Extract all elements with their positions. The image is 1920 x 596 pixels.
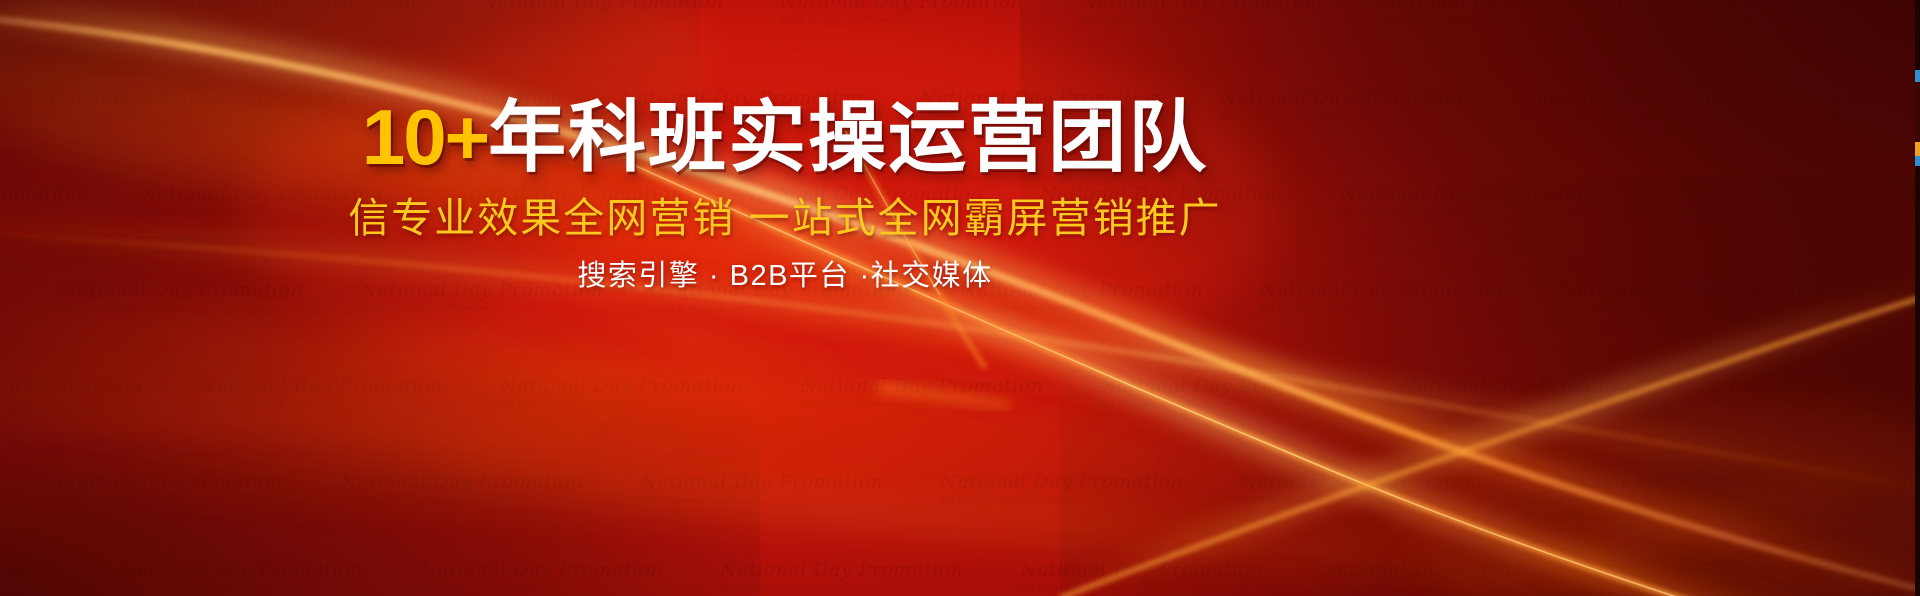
watermark-sub-text: 国庆节 National Day Promotion: [1320, 583, 1620, 594]
watermark-unit: National Day Promotion国庆节 National Day P…: [720, 560, 1020, 594]
watermark-sub-text: 国庆节 National Day Promotion: [960, 303, 1260, 314]
watermark-unit: National Day Promotion国庆节 National Day P…: [1680, 0, 1920, 26]
watermark-sub-text: 国庆节 National Day Promotion: [1100, 399, 1400, 410]
watermark-sub-text: 国庆节 National Day Promotion: [1860, 303, 1920, 314]
watermark-script-text: National Day Promotion: [1840, 472, 1920, 493]
watermark-unit: National Day Promotion国庆节 National Day P…: [0, 560, 120, 594]
watermark-row: National Day Promotion国庆节 National Day P…: [0, 560, 1920, 594]
watermark-script-text: National Day Promotion: [640, 472, 940, 493]
watermark-script-text: National Day Promotion: [1240, 472, 1540, 493]
watermark-script-text: National Day Promotion: [1640, 184, 1920, 205]
watermark-script-text: National Day Promotion: [1380, 0, 1680, 13]
watermark-script-text: National Day Promotion: [420, 560, 720, 581]
watermark-script-text: National Day Promotion: [1860, 280, 1920, 301]
watermark-unit: National Day Promotion国庆节 National Day P…: [1020, 560, 1320, 594]
watermark-sub-text: 国庆节 National Day Promotion: [1820, 111, 1920, 122]
watermark-script-text: National Day Promotion: [1020, 560, 1320, 581]
watermark-script-text: National Day Promotion: [1080, 0, 1380, 13]
watermark-unit: National Day Promotion国庆节 National Day P…: [0, 0, 180, 26]
watermark-sub-text: 国庆节 National Day Promotion: [1240, 495, 1540, 506]
watermark-sub-text: 国庆节 National Day Promotion: [1400, 399, 1700, 410]
watermark-unit: National Day Promotion国庆节 National Day P…: [1380, 0, 1680, 26]
watermark-script-text: National Day Promotion: [1100, 376, 1400, 397]
watermark-sub-text: 国庆节 National Day Promotion: [800, 399, 1100, 410]
watermark-unit: National Day Promotion国庆节 National Day P…: [1820, 88, 1920, 122]
right-edge-sliver: [1915, 0, 1920, 596]
watermark-unit: National Day Promotion国庆节 National Day P…: [0, 376, 200, 410]
watermark-script-text: National Day Promotion: [1700, 376, 1920, 397]
watermark-script-text: National Day Promotion: [1560, 280, 1860, 301]
watermark-unit: National Day Promotion国庆节 National Day P…: [420, 560, 720, 594]
watermark-unit: National Day Promotion国庆节 National Day P…: [1320, 560, 1620, 594]
watermark-sub-text: 国庆节 National Day Promotion: [1680, 15, 1920, 26]
watermark-sub-text: 国庆节 National Day Promotion: [0, 399, 200, 410]
watermark-script-text: National Day Promotion: [180, 0, 480, 13]
subheadline: 信专业效果全网营销 一站式全网霸屏营销推广: [0, 198, 1570, 239]
watermark-script-text: National Day Promotion: [1400, 376, 1700, 397]
watermark-unit: National Day Promotion国庆节 National Day P…: [780, 0, 1080, 26]
vignette-top-right: [1020, 0, 1920, 520]
watermark-sub-text: 国庆节 National Day Promotion: [660, 303, 960, 314]
watermark-script-text: National Day Promotion: [1620, 560, 1920, 581]
watermark-sub-text: 国庆节 National Day Promotion: [940, 495, 1240, 506]
watermark-script-text: National Day Promotion: [940, 472, 1240, 493]
watermark-script-text: National Day Promotion: [1680, 0, 1920, 13]
watermark-script-text: National Day Promotion: [340, 472, 640, 493]
watermark-sub-text: 国庆节 National Day Promotion: [360, 303, 660, 314]
watermark-unit: National Day Promotion国庆节 National Day P…: [1080, 0, 1380, 26]
watermark-sub-text: 国庆节 National Day Promotion: [420, 583, 720, 594]
watermark-unit: National Day Promotion国庆节 National Day P…: [1840, 472, 1920, 506]
watermark-sub-text: 国庆节 National Day Promotion: [1380, 15, 1680, 26]
watermark-script-text: National Day Promotion: [1540, 472, 1840, 493]
headline: 10+年科班实操运营团队: [0, 98, 1570, 176]
watermark-row: National Day Promotion国庆节 National Day P…: [40, 472, 1920, 506]
watermark-script-text: National Day Promotion: [0, 0, 180, 13]
watermark-script-text: National Day Promotion: [780, 0, 1080, 13]
watermark-sub-text: 国庆节 National Day Promotion: [500, 399, 800, 410]
watermark-sub-text: 国庆节 National Day Promotion: [780, 15, 1080, 26]
watermark-unit: National Day Promotion国庆节 National Day P…: [1400, 376, 1700, 410]
watermark-script-text: National Day Promotion: [1820, 88, 1920, 109]
light-streaks: [0, 0, 1920, 596]
watermark-script-text: National Day Promotion: [40, 472, 340, 493]
watermark-pattern: National Day Promotion国庆节 National Day P…: [0, 0, 1920, 596]
watermark-sub-text: 国庆节 National Day Promotion: [720, 583, 1020, 594]
watermark-unit: National Day Promotion国庆节 National Day P…: [1240, 472, 1540, 506]
watermark-script-text: National Day Promotion: [120, 560, 420, 581]
watermark-unit: National Day Promotion国庆节 National Day P…: [40, 472, 340, 506]
watermark-sub-text: 国庆节 National Day Promotion: [0, 15, 180, 26]
watermark-unit: National Day Promotion国庆节 National Day P…: [500, 376, 800, 410]
watermark-script-text: National Day Promotion: [0, 376, 200, 397]
watermark-unit: National Day Promotion国庆节 National Day P…: [180, 0, 480, 26]
watermark-unit: National Day Promotion国庆节 National Day P…: [940, 472, 1240, 506]
watermark-sub-text: 国庆节 National Day Promotion: [1020, 583, 1320, 594]
watermark-unit: National Day Promotion国庆节 National Day P…: [640, 472, 940, 506]
watermark-unit: National Day Promotion国庆节 National Day P…: [1640, 184, 1920, 218]
watermark-sub-text: 国庆节 National Day Promotion: [1840, 495, 1920, 506]
watermark-sub-text: 国庆节 National Day Promotion: [480, 15, 780, 26]
watermark-sub-text: 国庆节 National Day Promotion: [120, 583, 420, 594]
watermark-unit: National Day Promotion国庆节 National Day P…: [120, 560, 420, 594]
watermark-unit: National Day Promotion国庆节 National Day P…: [800, 376, 1100, 410]
watermark-script-text: National Day Promotion: [200, 376, 500, 397]
watermark-unit: National Day Promotion国庆节 National Day P…: [200, 376, 500, 410]
watermark-unit: National Day Promotion国庆节 National Day P…: [1860, 280, 1920, 314]
promo-banner: National Day Promotion国庆节 National Day P…: [0, 0, 1920, 596]
watermark-script-text: National Day Promotion: [0, 560, 120, 581]
watermark-sub-text: 国庆节 National Day Promotion: [60, 303, 360, 314]
watermark-unit: National Day Promotion国庆节 National Day P…: [1700, 376, 1920, 410]
watermark-script-text: National Day Promotion: [800, 376, 1100, 397]
watermark-unit: National Day Promotion国庆节 National Day P…: [1100, 376, 1400, 410]
watermark-sub-text: 国庆节 National Day Promotion: [1700, 399, 1920, 410]
watermark-unit: National Day Promotion国庆节 National Day P…: [1560, 280, 1860, 314]
watermark-unit: National Day Promotion国庆节 National Day P…: [340, 472, 640, 506]
watermark-sub-text: 国庆节 National Day Promotion: [1640, 207, 1920, 218]
watermark-script-text: National Day Promotion: [1320, 560, 1620, 581]
watermark-sub-text: 国庆节 National Day Promotion: [1260, 303, 1560, 314]
watermark-sub-text: 国庆节 National Day Promotion: [40, 495, 340, 506]
watermark-sub-text: 国庆节 National Day Promotion: [0, 583, 120, 594]
watermark-sub-text: 国庆节 National Day Promotion: [180, 15, 480, 26]
headline-number: 10+: [362, 93, 488, 181]
tagline: 搜索引擎 · B2B平台 ·社交媒体: [0, 262, 1570, 291]
headline-text: 年科班实操运营团队: [488, 93, 1208, 181]
watermark-sub-text: 国庆节 National Day Promotion: [1540, 495, 1840, 506]
watermark-sub-text: 国庆节 National Day Promotion: [640, 495, 940, 506]
watermark-unit: National Day Promotion国庆节 National Day P…: [1620, 560, 1920, 594]
watermark-row: National Day Promotion国庆节 National Day P…: [0, 376, 1920, 410]
watermark-unit: National Day Promotion国庆节 National Day P…: [1540, 472, 1840, 506]
watermark-script-text: National Day Promotion: [500, 376, 800, 397]
watermark-sub-text: 国庆节 National Day Promotion: [1080, 15, 1380, 26]
watermark-sub-text: 国庆节 National Day Promotion: [1560, 303, 1860, 314]
watermark-unit: National Day Promotion国庆节 National Day P…: [480, 0, 780, 26]
watermark-sub-text: 国庆节 National Day Promotion: [340, 495, 640, 506]
watermark-sub-text: 国庆节 National Day Promotion: [1620, 583, 1920, 594]
watermark-script-text: National Day Promotion: [720, 560, 1020, 581]
watermark-script-text: National Day Promotion: [480, 0, 780, 13]
watermark-row: National Day Promotion国庆节 National Day P…: [0, 0, 1920, 26]
watermark-sub-text: 国庆节 National Day Promotion: [200, 399, 500, 410]
